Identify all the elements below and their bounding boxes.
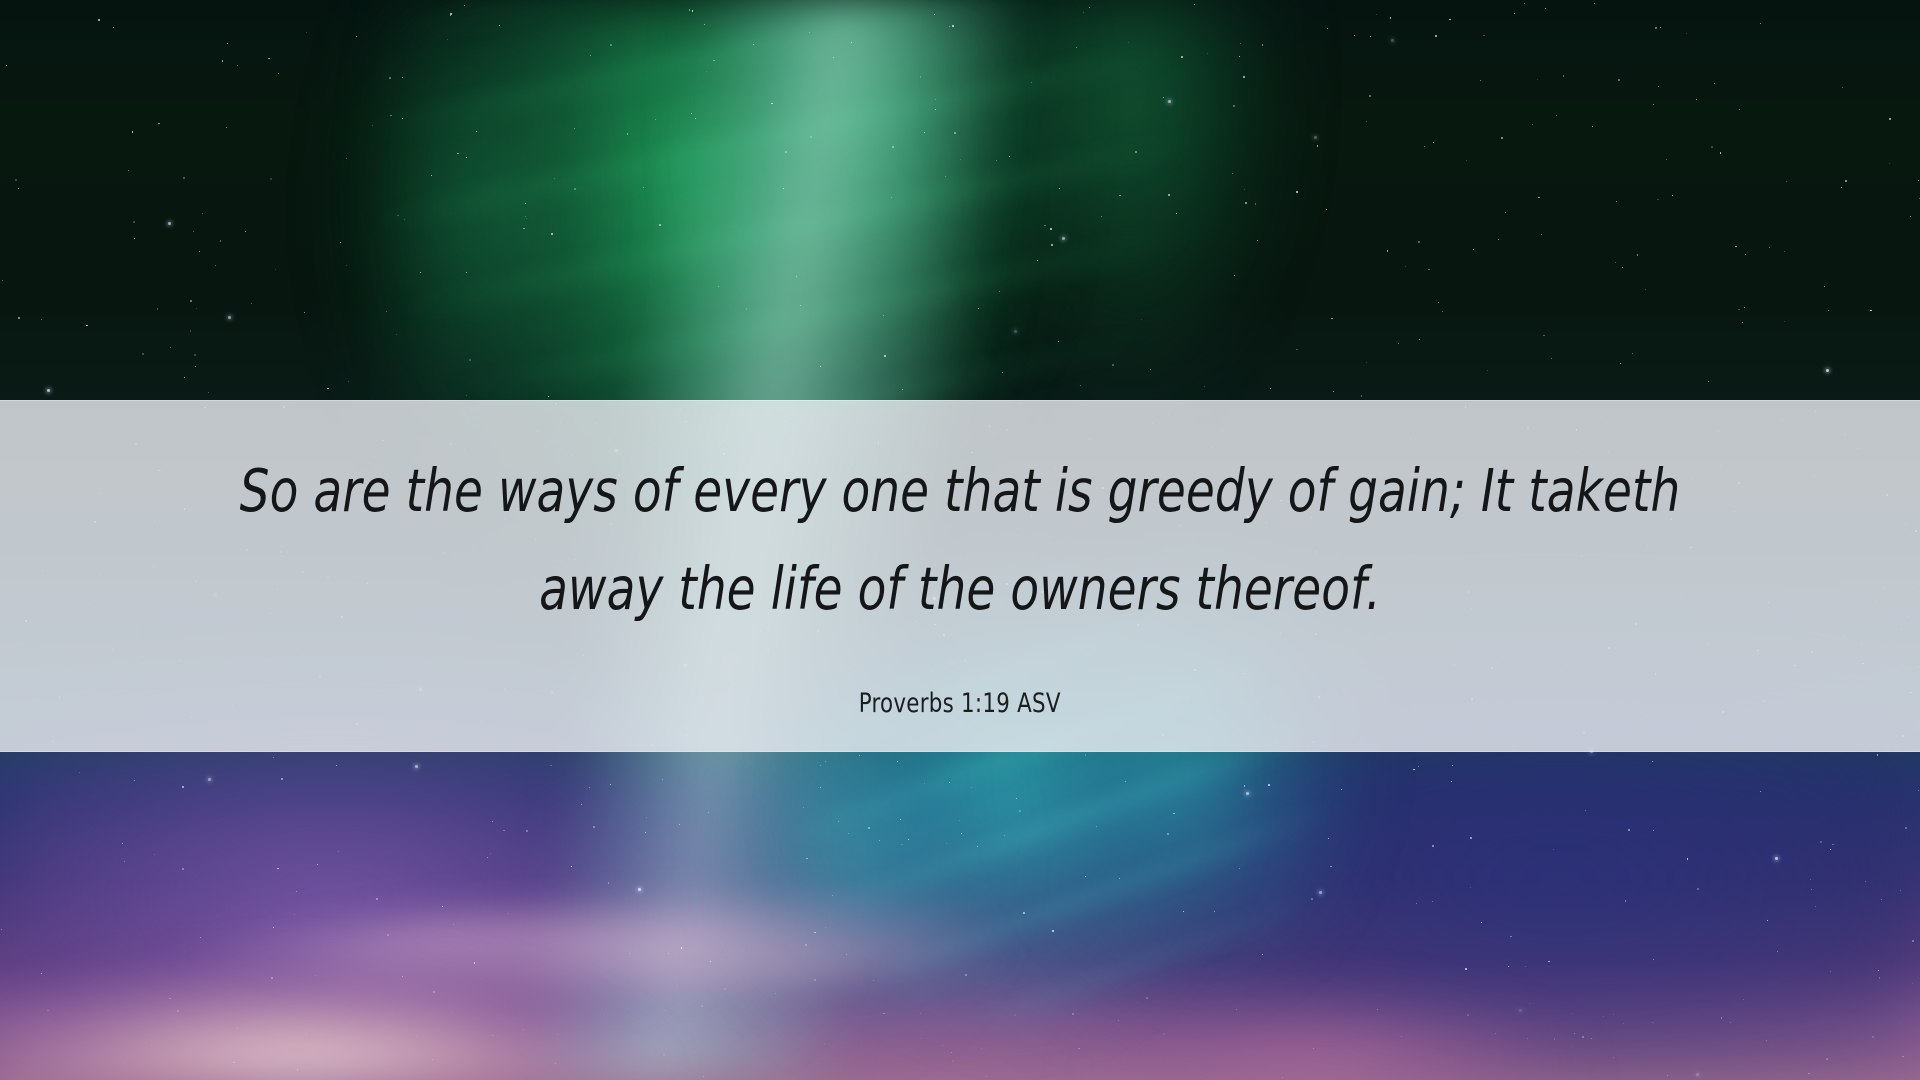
quote-band: So are the ways of every one that is gre… xyxy=(0,400,1920,752)
quote-reference: Proverbs 1:19 ASV xyxy=(859,688,1061,719)
scripture-wallpaper: So are the ways of every one that is gre… xyxy=(0,0,1920,1080)
quote-text: So are the ways of every one that is gre… xyxy=(181,442,1739,638)
